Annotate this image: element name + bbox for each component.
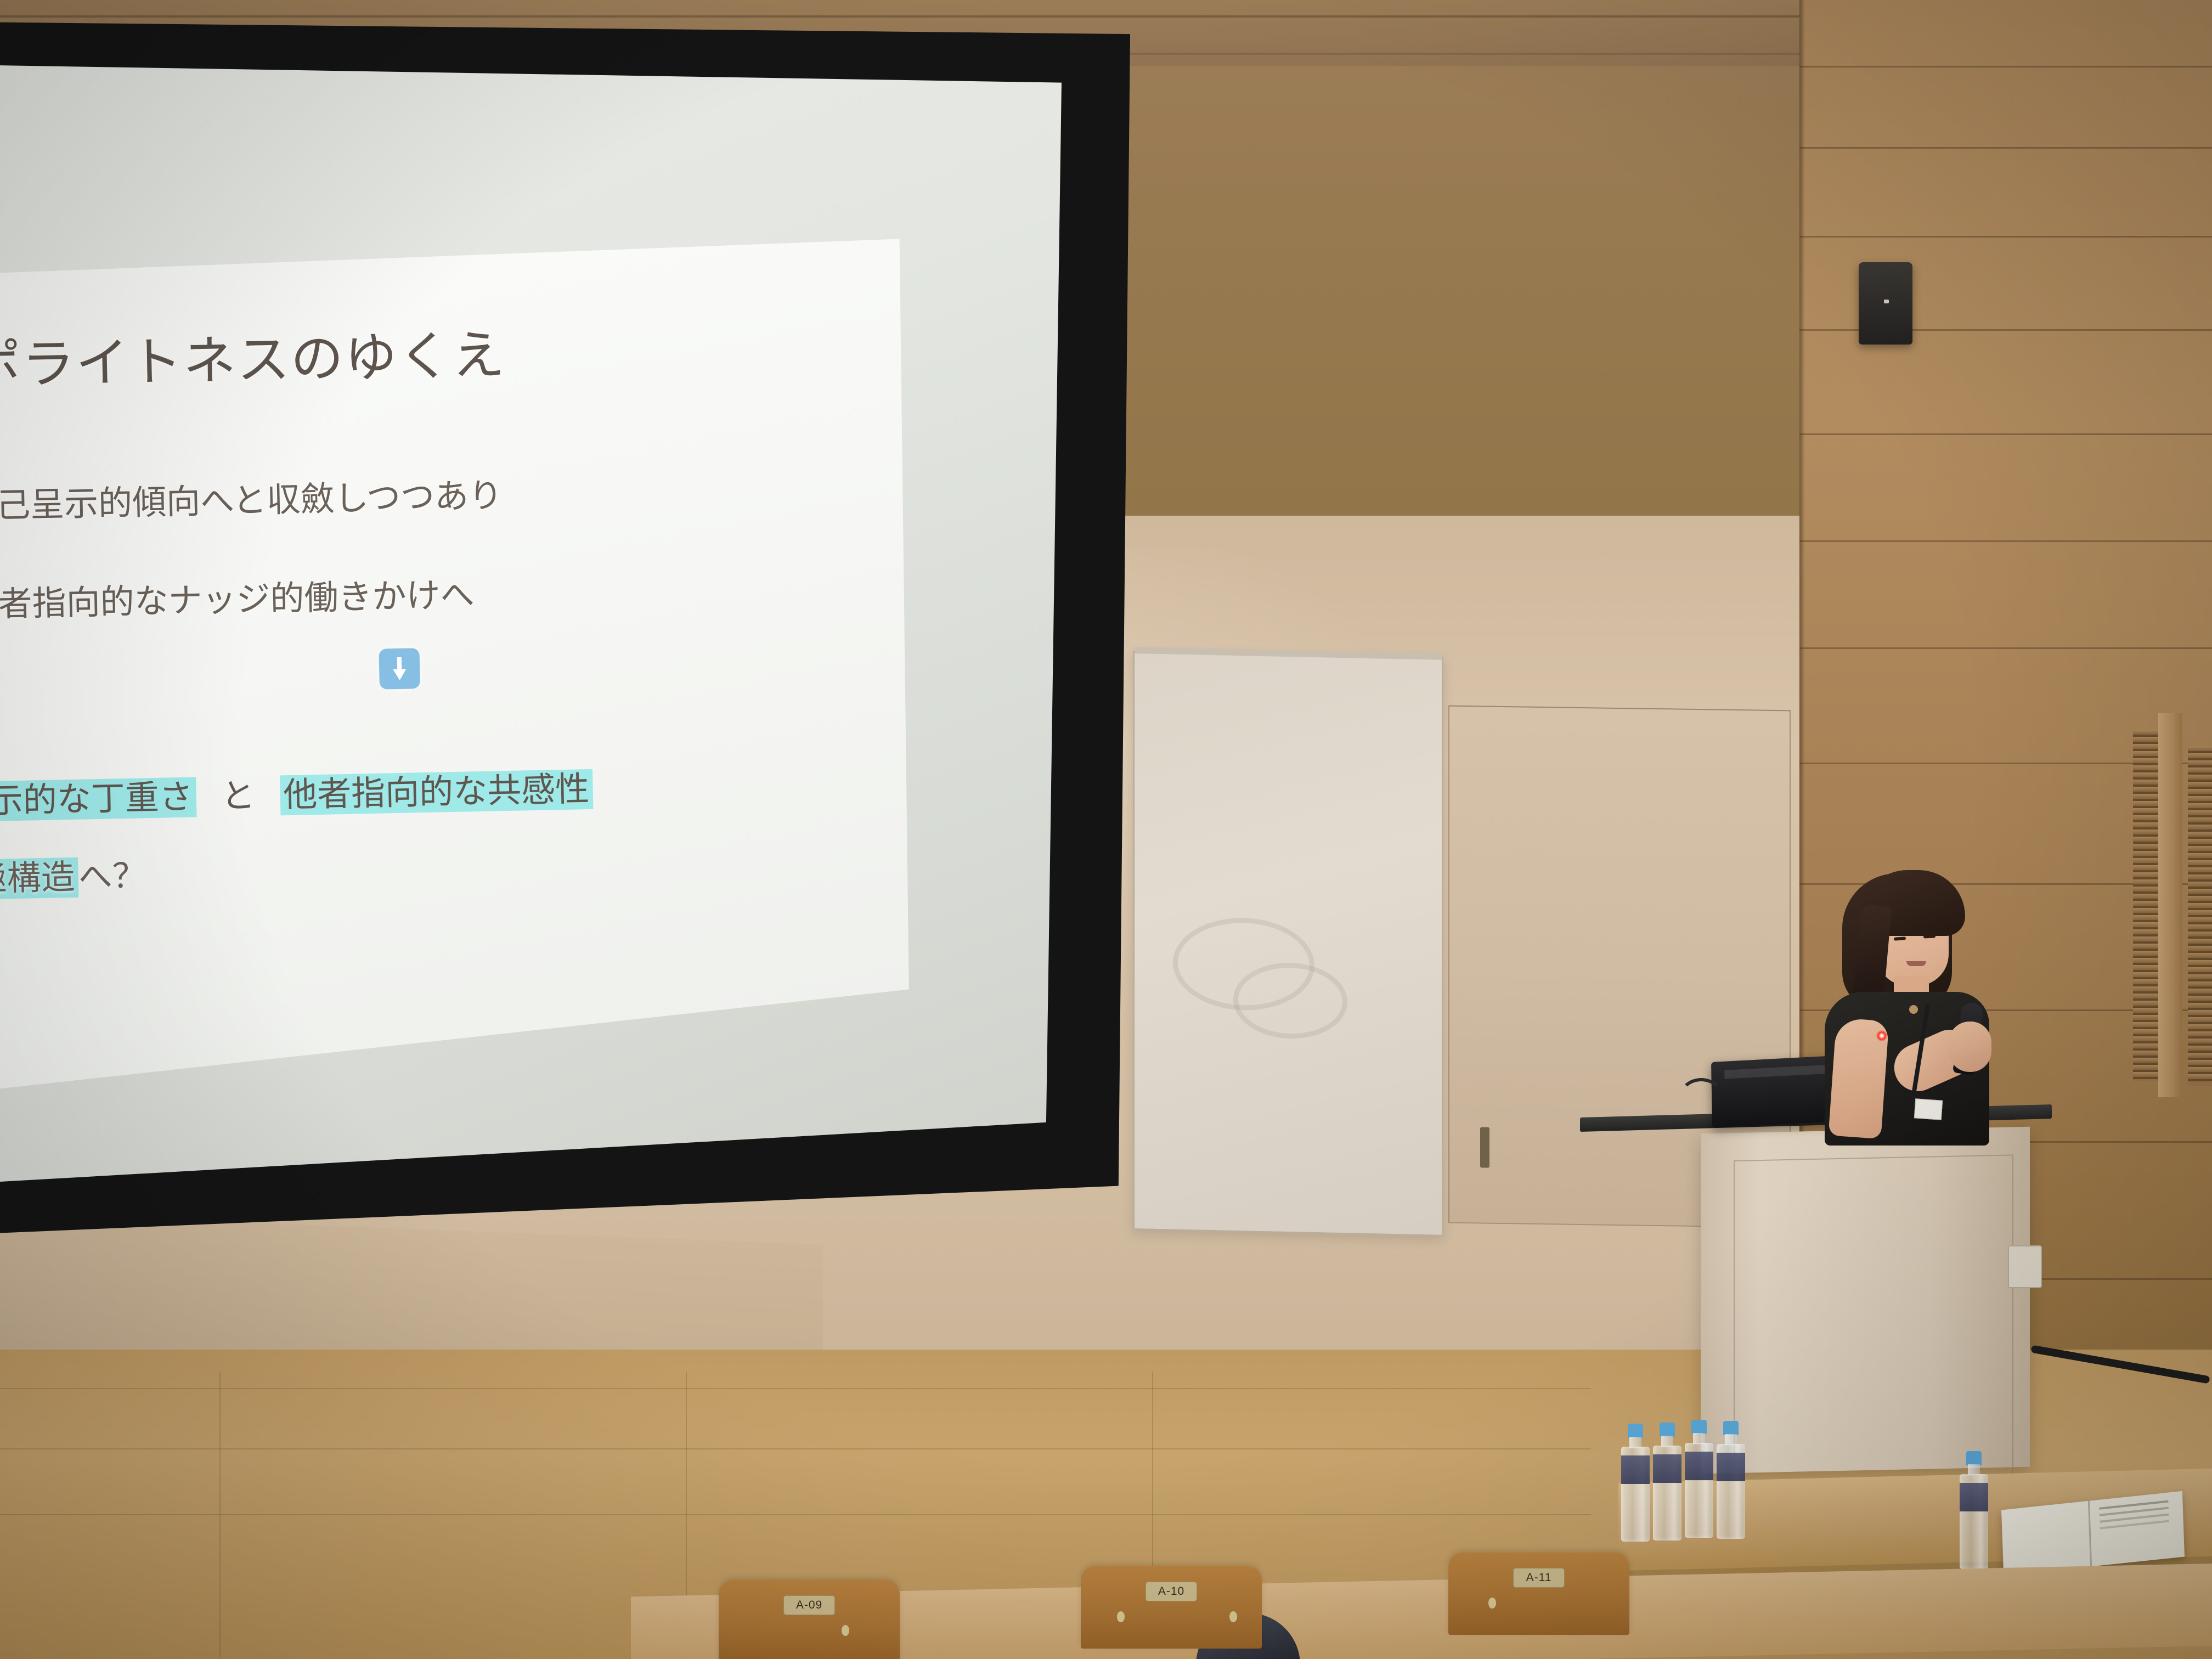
seat-number-plate: A-09 — [783, 1595, 835, 1615]
mouth — [1906, 961, 1926, 966]
speaker-led-icon — [1884, 300, 1889, 303]
wall-speaker-icon — [1859, 262, 1912, 345]
bottle-label — [1685, 1452, 1713, 1480]
bottle-cap-icon — [1691, 1420, 1707, 1434]
bottle-label — [1717, 1453, 1745, 1481]
bottle-cap-icon — [1966, 1451, 1982, 1465]
wood-column — [2158, 713, 2182, 1097]
conjunction: と — [205, 777, 270, 816]
bottle-neck — [1629, 1437, 1641, 1448]
bottle-label — [1621, 1455, 1650, 1484]
necklace-icon — [1909, 1005, 1918, 1014]
bottle-cap-icon — [1628, 1424, 1643, 1438]
slide-final-line: 二極構造へ？ — [0, 857, 146, 899]
bottle-neck — [1693, 1433, 1705, 1444]
lecture-hall-photo: …ポライトネスのゆくえ は自己呈示的傾向へと収斂しつつあり は他者指向的なナッジ… — [0, 0, 2212, 1659]
bottle-neck — [1661, 1436, 1673, 1447]
wall-vent-louvre — [2133, 730, 2158, 1081]
hand — [1949, 1022, 1991, 1072]
seat-screw-icon — [1488, 1598, 1496, 1609]
water-bottle[interactable] — [1621, 1424, 1650, 1542]
seat-a09[interactable]: A-09 — [719, 1580, 900, 1659]
seat-screw-icon — [1117, 1611, 1125, 1622]
whiteboard — [1133, 651, 1443, 1237]
mic-status-led-icon — [1876, 1030, 1887, 1041]
slide-body-line-2: は他者指向的なナッジ的働きかけへ — [0, 577, 475, 625]
water-bottle[interactable] — [1960, 1451, 1988, 1569]
seat-number-plate: A-11 — [1513, 1568, 1565, 1588]
highlight-left: 己呈示的な丁重さ — [0, 777, 197, 822]
presenter — [1810, 867, 2008, 1141]
bottle-cap-icon — [1660, 1423, 1675, 1437]
door-handle-icon[interactable] — [1480, 1127, 1489, 1167]
seat-screw-icon — [1229, 1611, 1237, 1622]
down-arrow-icon — [379, 648, 420, 689]
seat-number-plate: A-10 — [1145, 1582, 1197, 1601]
bottle-neck — [1725, 1434, 1737, 1445]
water-bottle[interactable] — [1685, 1420, 1713, 1538]
wall-vent-louvre — [2188, 746, 2212, 1086]
lectern-panel-inset — [1734, 1154, 2013, 1484]
highlight-right: 他者指向的な共感性 — [280, 769, 593, 815]
name-badge — [1914, 1098, 1943, 1120]
water-bottle[interactable] — [1717, 1421, 1745, 1539]
bottle-label — [1960, 1483, 1988, 1511]
booklet-spine — [2088, 1501, 2092, 1567]
slide-body-line-1: は自己呈示的傾向へと収斂しつつあり — [0, 477, 503, 526]
slide-conclusion-line: 己呈示的な丁重さ と 他者指向的な共感性 — [0, 761, 593, 824]
bottle-label — [1653, 1454, 1681, 1483]
lectern — [1701, 1127, 2030, 1474]
projected-slide: …ポライトネスのゆくえ は自己呈示的傾向へと収斂しつつあり は他者指向的なナッジ… — [0, 239, 916, 1091]
water-bottle[interactable] — [1653, 1423, 1681, 1541]
slide-title: …ポライトネスのゆくえ — [0, 328, 506, 395]
final-tail: へ？ — [78, 857, 146, 896]
seat-a11[interactable]: A-11 — [1448, 1553, 1629, 1635]
seat-a10[interactable]: A-10 — [1081, 1566, 1262, 1649]
eye-right — [1923, 934, 1936, 938]
highlight-final: 二極構造 — [0, 857, 78, 900]
wall-outlet-icon[interactable] — [2008, 1245, 2042, 1288]
bottle-cap-icon — [1723, 1421, 1739, 1435]
booklet-text-lines — [2100, 1500, 2168, 1510]
bottle-neck — [1968, 1464, 1980, 1475]
cable-loop — [1679, 1078, 1724, 1118]
seat-screw-icon — [842, 1625, 849, 1636]
